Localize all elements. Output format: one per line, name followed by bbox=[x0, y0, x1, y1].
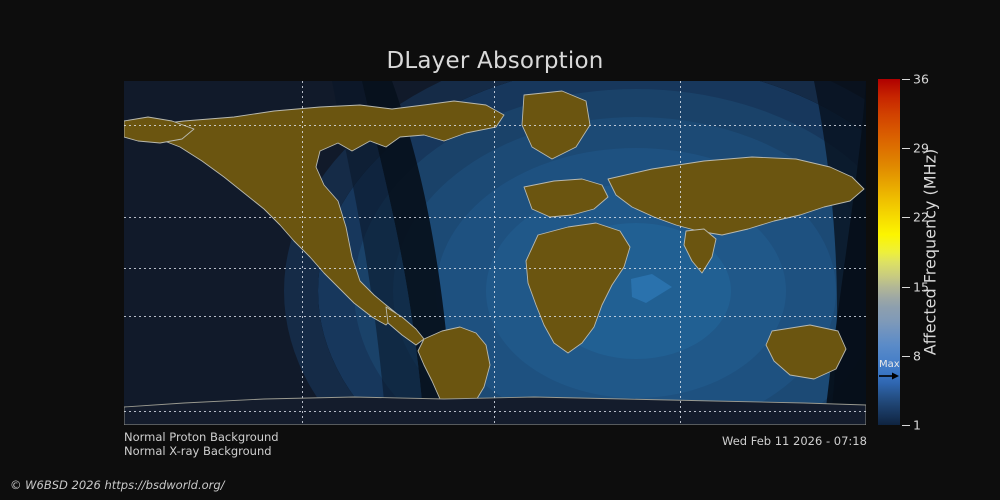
gridline-lon-east bbox=[680, 81, 681, 425]
gridline-lat-arctic bbox=[124, 125, 866, 126]
gridline-lon-prime bbox=[494, 81, 495, 425]
colorbar-axis-label: Affected Frequency (MHz) bbox=[921, 149, 940, 355]
gridline-lon-west bbox=[302, 81, 303, 425]
colorbar-max-label: Max bbox=[879, 359, 900, 370]
page-title: DLayer Absorption bbox=[0, 48, 990, 74]
proton-background-note: Normal Proton Background bbox=[124, 430, 279, 444]
copyright-notice: © W6BSD 2026 https://bsdworld.org/ bbox=[10, 478, 225, 492]
colorbar-tick-3 bbox=[902, 287, 910, 288]
graticule-layer bbox=[124, 81, 866, 425]
world-map-plot bbox=[124, 81, 866, 425]
colorbar-tick-5 bbox=[902, 425, 910, 426]
colorbar-tick-4 bbox=[902, 356, 910, 357]
dlayer-absorption-chart: DLayer Absorption bbox=[0, 0, 1000, 500]
arrow-right-icon bbox=[879, 372, 899, 380]
xray-background-note: Normal X-ray Background bbox=[124, 444, 272, 458]
gridline-lat-antarctic bbox=[124, 411, 866, 412]
colorbar: Max 36 29 22 15 8 1 bbox=[878, 79, 900, 425]
timestamp: Wed Feb 11 2026 - 07:18 bbox=[722, 434, 867, 448]
colorbar-tick-1 bbox=[902, 148, 910, 149]
gridline-lat-equator bbox=[124, 268, 866, 269]
colorbar-tick-label-0: 36 bbox=[913, 72, 929, 87]
colorbar-tick-label-5: 1 bbox=[913, 418, 921, 433]
gridline-lat-cancer bbox=[124, 217, 866, 218]
colorbar-max-marker: Max bbox=[878, 359, 900, 383]
colorbar-tick-2 bbox=[902, 217, 910, 218]
colorbar-tick-0 bbox=[902, 79, 910, 80]
gridline-lat-capricorn bbox=[124, 316, 866, 317]
